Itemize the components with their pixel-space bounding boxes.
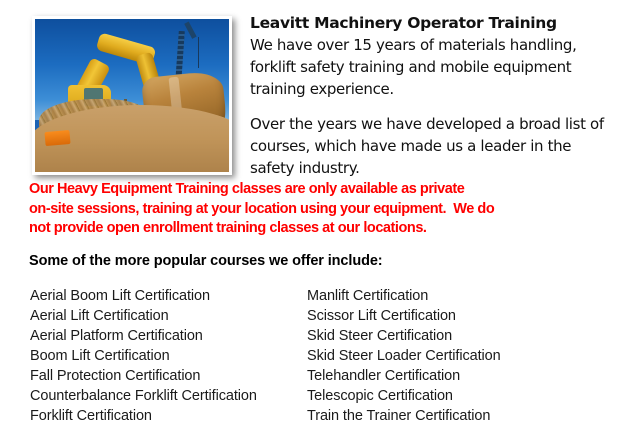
course-list-right: Manlift Certification Scissor Lift Certi… — [307, 286, 607, 426]
notice-line-3: not provide open enrollment training cla… — [29, 219, 604, 239]
list-item[interactable]: Telescopic Certification — [307, 386, 607, 406]
list-item[interactable]: Aerial Platform Certification — [30, 326, 305, 346]
list-item[interactable]: Aerial Boom Lift Certification — [30, 286, 305, 306]
courses-lead-in: Some of the more popular courses we offe… — [29, 252, 383, 270]
list-item[interactable]: Forklift Certification — [30, 406, 305, 426]
intro-text-column: Leavitt Machinery Operator Training We h… — [250, 13, 610, 179]
private-training-notice: Our Heavy Equipment Training classes are… — [29, 180, 604, 239]
list-item[interactable]: Fall Protection Certification — [30, 366, 305, 386]
list-item[interactable]: Aerial Lift Certification — [30, 306, 305, 326]
orange-equipment-box — [44, 130, 70, 146]
notice-line-2: on-site sessions, training at your locat… — [29, 200, 604, 220]
list-item[interactable]: Skid Steer Loader Certification — [307, 346, 607, 366]
list-item[interactable]: Boom Lift Certification — [30, 346, 305, 366]
page-title: Leavitt Machinery Operator Training — [250, 13, 610, 33]
course-column-left: Aerial Boom Lift Certification Aerial Li… — [30, 286, 305, 426]
course-list-left: Aerial Boom Lift Certification Aerial Li… — [30, 286, 305, 426]
list-item[interactable]: Telehandler Certification — [307, 366, 607, 386]
page-root: Leavitt Machinery Operator Training We h… — [0, 0, 619, 432]
course-list-section: Aerial Boom Lift Certification Aerial Li… — [0, 286, 619, 432]
excavator-photo-frame — [32, 16, 232, 175]
intro-paragraph-1: We have over 15 years of materials handl… — [250, 34, 610, 100]
background-crane-cable — [198, 37, 199, 68]
excavator-photo — [35, 19, 229, 172]
list-item[interactable]: Train the Trainer Certification — [307, 406, 607, 426]
list-item[interactable]: Scissor Lift Certification — [307, 306, 607, 326]
list-item[interactable]: Skid Steer Certification — [307, 326, 607, 346]
list-item[interactable]: Manlift Certification — [307, 286, 607, 306]
course-column-right: Manlift Certification Scissor Lift Certi… — [307, 286, 607, 426]
notice-line-1: Our Heavy Equipment Training classes are… — [29, 180, 604, 200]
intro-section: Leavitt Machinery Operator Training We h… — [0, 0, 619, 178]
list-item[interactable]: Counterbalance Forklift Certification — [30, 386, 305, 406]
intro-paragraph-2: Over the years we have developed a broad… — [250, 113, 610, 179]
